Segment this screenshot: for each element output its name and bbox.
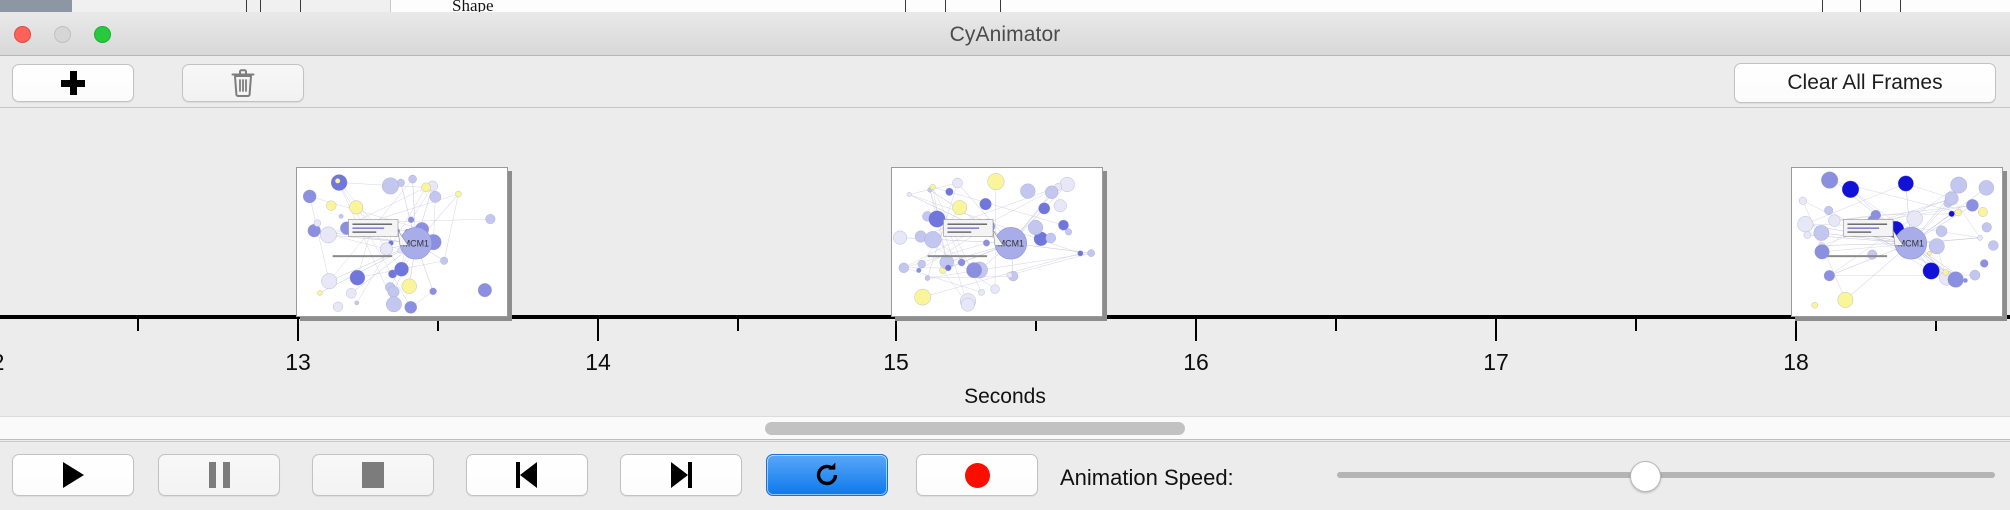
timeline-frame-thumbnail[interactable]: MCM1 — [296, 167, 508, 317]
axis-tick — [597, 319, 599, 341]
animation-speed-slider[interactable] — [1337, 472, 1995, 478]
skip-forward-icon — [668, 462, 694, 488]
axis-tick-label: 13 — [285, 349, 311, 376]
timeline-scrollbar[interactable] — [0, 416, 2010, 440]
frame-toolbar: Clear All Frames — [0, 56, 2010, 108]
axis-tick-label: 2 — [0, 349, 4, 376]
timeline-frame-thumbnail[interactable]: MCM1 — [891, 167, 1103, 317]
axis-tick — [1335, 319, 1337, 331]
stop-button[interactable] — [312, 454, 434, 496]
timeline-panel[interactable]: 2131415161718 Seconds MCM1MCM1MCM1 — [0, 109, 2010, 416]
clear-all-frames-button[interactable]: Clear All Frames — [1734, 63, 1996, 103]
window-title: CyAnimator — [0, 23, 2010, 47]
cyanimator-window: Shape CyAnimator Clear All Frames 213141… — [0, 0, 2010, 510]
axis-tick — [1635, 319, 1637, 331]
transport-bar: Animation Speed: — [0, 441, 2010, 510]
first-frame-button[interactable] — [466, 454, 588, 496]
clear-all-frames-label: Clear All Frames — [1787, 71, 1942, 95]
play-button[interactable] — [12, 454, 134, 496]
play-icon — [63, 462, 84, 488]
stop-icon — [362, 462, 384, 488]
timeline-scrollbar-thumb[interactable] — [765, 422, 1185, 435]
loop-button[interactable] — [766, 454, 888, 496]
axis-tick-label: 16 — [1183, 349, 1209, 376]
axis-tick — [1495, 319, 1497, 341]
record-icon — [965, 463, 990, 488]
axis-tick — [895, 319, 897, 341]
axis-tick — [437, 319, 439, 331]
add-frame-button[interactable] — [12, 64, 134, 102]
skip-back-icon — [514, 462, 540, 488]
axis-tick-label: 18 — [1783, 349, 1809, 376]
delete-frame-button[interactable] — [182, 64, 304, 102]
axis-tick — [1795, 319, 1797, 341]
animation-speed-label: Animation Speed: — [1060, 465, 1234, 491]
animation-speed-slider-thumb[interactable] — [1630, 461, 1661, 492]
axis-tick-label: 15 — [883, 349, 909, 376]
axis-tick-label: 14 — [585, 349, 611, 376]
record-button[interactable] — [916, 454, 1038, 496]
pause-button[interactable] — [158, 454, 280, 496]
background-window-titlebar — [0, 0, 72, 12]
axis-tick — [1035, 319, 1037, 331]
last-frame-button[interactable] — [620, 454, 742, 496]
axis-tick — [297, 319, 299, 341]
timeline-axis-title: Seconds — [0, 385, 2010, 409]
plus-icon — [61, 71, 85, 95]
axis-tick — [1935, 319, 1937, 331]
timeline-frame-thumbnail[interactable]: MCM1 — [1791, 167, 2003, 317]
trash-icon — [230, 68, 256, 98]
axis-tick — [137, 319, 139, 331]
pause-icon — [209, 462, 230, 488]
axis-tick — [737, 319, 739, 331]
loop-icon — [812, 460, 842, 490]
axis-tick — [1195, 319, 1197, 341]
axis-tick-label: 17 — [1483, 349, 1509, 376]
title-bar: CyAnimator — [0, 12, 2010, 56]
